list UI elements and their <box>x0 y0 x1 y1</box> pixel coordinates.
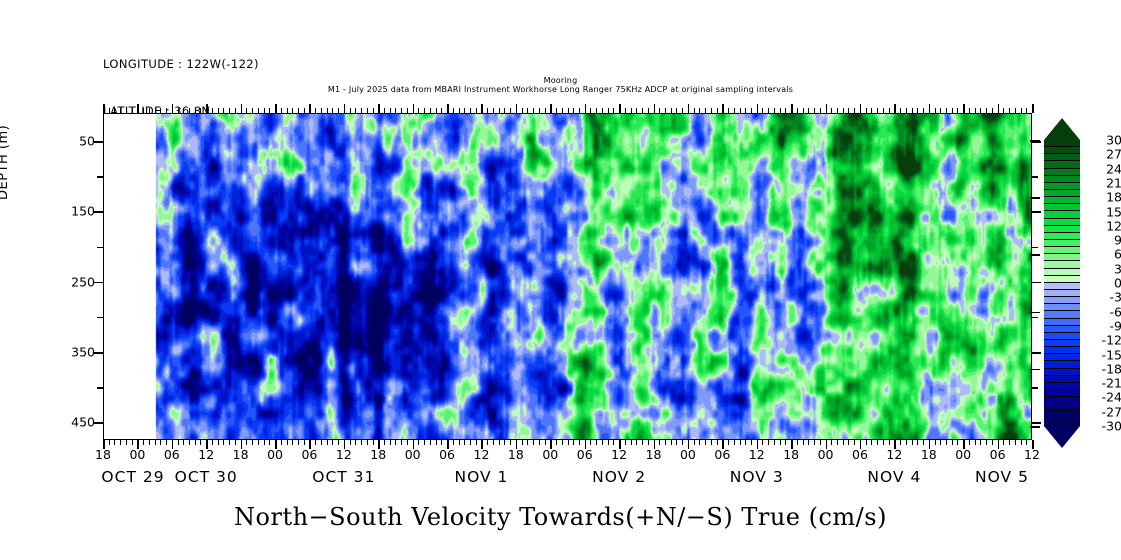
axis-tick <box>527 108 528 113</box>
axis-tick <box>275 104 277 113</box>
axis-tick <box>132 440 133 445</box>
colorbar-tick-label: -9 <box>1088 318 1121 333</box>
axis-tick <box>206 104 208 113</box>
axis-tick <box>522 440 523 445</box>
axis-tick <box>613 440 614 445</box>
axis-tick <box>1021 440 1022 445</box>
axis-tick <box>808 440 809 445</box>
axis-tick <box>860 104 862 113</box>
axis-tick <box>654 104 656 113</box>
colorbar-band <box>1044 311 1080 318</box>
colorbar-tick-label: 3 <box>1088 261 1121 276</box>
axis-tick <box>774 108 775 113</box>
axis-tick <box>321 440 322 445</box>
axis-tick <box>545 108 546 113</box>
axis-tick <box>768 108 769 113</box>
axis-tick <box>418 440 419 445</box>
colorbar-band <box>1044 240 1080 247</box>
axis-tick <box>791 104 793 113</box>
colorbar-band <box>1044 369 1080 376</box>
axis-tick <box>952 108 953 113</box>
axis-tick <box>688 440 690 449</box>
x-tick-hour: 18 <box>921 447 937 462</box>
colorbar-tick-label: -21 <box>1088 376 1121 391</box>
axis-tick <box>740 440 741 445</box>
x-tick-hour: 00 <box>955 447 971 462</box>
x-tick-hour: 00 <box>542 447 558 462</box>
colorbar-band <box>1044 390 1080 397</box>
colorbar-tick-label: 30 <box>1088 133 1121 148</box>
axis-tick <box>338 108 339 113</box>
axis-tick <box>562 440 563 445</box>
axis-tick <box>499 440 500 445</box>
axis-tick <box>986 440 987 445</box>
axis-tick <box>1032 282 1041 284</box>
colorbar-band <box>1044 204 1080 211</box>
axis-tick <box>504 108 505 113</box>
axis-tick <box>699 440 700 445</box>
colorbar-tick-label: 21 <box>1088 175 1121 190</box>
axis-tick <box>676 440 677 445</box>
velocity-heatmap <box>104 114 1031 439</box>
axis-tick <box>178 108 179 113</box>
axis-tick <box>350 440 351 445</box>
axis-tick <box>309 104 311 113</box>
axis-tick <box>642 108 643 113</box>
axis-tick <box>252 440 253 445</box>
axis-tick <box>390 108 391 113</box>
axis-tick <box>235 440 236 445</box>
axis-tick <box>734 440 735 445</box>
axis-tick <box>487 440 488 445</box>
axis-tick <box>642 440 643 445</box>
axis-tick <box>281 440 282 445</box>
axis-tick <box>705 108 706 113</box>
colorbar-tick-label: 18 <box>1088 190 1121 205</box>
axis-tick <box>659 108 660 113</box>
axis-tick <box>568 440 569 445</box>
axis-tick <box>711 440 712 445</box>
axis-tick <box>1030 426 1040 428</box>
x-tick-hour: 00 <box>680 447 696 462</box>
colorbar-band <box>1044 183 1080 190</box>
axis-tick <box>722 104 724 113</box>
axis-tick <box>384 108 385 113</box>
axis-tick <box>866 108 867 113</box>
axis-tick <box>97 176 103 178</box>
axis-tick <box>728 440 729 445</box>
axis-tick <box>539 440 540 445</box>
axis-tick <box>986 108 987 113</box>
axis-tick <box>109 440 110 445</box>
axis-tick <box>109 108 110 113</box>
axis-tick <box>1032 440 1034 449</box>
x-axis-hour-labels: 1800061218000612180006121800061218000612… <box>103 447 1032 463</box>
colorbar-tick-label: -24 <box>1088 390 1121 405</box>
axis-tick <box>264 440 265 445</box>
colorbar-band <box>1044 154 1080 161</box>
axis-tick <box>470 108 471 113</box>
axis-tick <box>952 440 953 445</box>
axis-tick <box>200 440 201 445</box>
axis-tick <box>287 440 288 445</box>
axis-tick <box>1026 108 1027 113</box>
axis-tick <box>126 440 127 445</box>
axis-tick <box>424 440 425 445</box>
axis-tick <box>923 440 924 445</box>
colorbar-tick-label: 15 <box>1088 204 1121 219</box>
axis-tick <box>722 440 724 449</box>
colorbar-tick-label: -30 <box>1088 419 1121 434</box>
x-tick-hour: 06 <box>164 447 180 462</box>
axis-tick <box>516 440 518 449</box>
axis-tick <box>843 440 844 445</box>
x-axis-day-labels: OCT 29OCT 30OCT 31NOV 1NOV 2NOV 3NOV 4NO… <box>103 468 1032 490</box>
axis-tick <box>871 108 872 113</box>
x-tick-day: NOV 5 <box>975 468 1029 486</box>
axis-tick <box>751 440 752 445</box>
axis-tick <box>894 104 896 113</box>
colorbar-band <box>1044 169 1080 176</box>
axis-tick <box>1032 247 1038 249</box>
colorbar-band <box>1044 354 1080 361</box>
axis-tick <box>189 108 190 113</box>
axis-tick <box>327 108 328 113</box>
x-tick-hour: 12 <box>336 447 352 462</box>
colorbar-band <box>1044 140 1080 147</box>
axis-tick <box>447 440 449 449</box>
axis-tick <box>1003 108 1004 113</box>
axis-tick <box>900 108 901 113</box>
axis-tick <box>619 104 621 113</box>
plot-area <box>103 113 1032 440</box>
axis-tick <box>533 108 534 113</box>
colorbar-band <box>1044 190 1080 197</box>
colorbar-bands <box>1044 140 1080 426</box>
axis-tick <box>636 440 637 445</box>
subtitle-instrument: M1 - July 2025 data from MBARI Instrumen… <box>0 85 1121 94</box>
axis-tick <box>831 108 832 113</box>
axis-tick <box>682 440 683 445</box>
axis-tick <box>481 104 483 113</box>
axis-tick <box>556 440 557 445</box>
axis-tick <box>590 108 591 113</box>
axis-tick <box>327 440 328 445</box>
axis-tick <box>900 440 901 445</box>
axis-tick <box>206 440 208 449</box>
axis-tick <box>441 440 442 445</box>
axis-tick <box>97 387 103 389</box>
axis-tick <box>235 108 236 113</box>
axis-tick <box>149 108 150 113</box>
axis-tick <box>418 108 419 113</box>
y-tick-label: 250 <box>71 274 95 289</box>
colorbar-band <box>1044 376 1080 383</box>
colorbar-band <box>1044 340 1080 347</box>
axis-tick <box>803 440 804 445</box>
axis-tick <box>361 108 362 113</box>
axis-tick <box>1030 197 1040 199</box>
x-tick-hour: 18 <box>646 447 662 462</box>
axis-tick <box>309 440 311 449</box>
x-tick-day: NOV 1 <box>455 468 509 486</box>
axis-tick <box>1026 440 1027 445</box>
subtitle-mooring: Mooring <box>0 76 1121 85</box>
axis-tick <box>717 440 718 445</box>
axis-tick <box>252 108 253 113</box>
axis-tick <box>705 440 706 445</box>
axis-tick <box>155 108 156 113</box>
axis-tick <box>464 108 465 113</box>
x-tick-hour: 12 <box>611 447 627 462</box>
axis-tick <box>212 440 213 445</box>
axis-tick <box>883 440 884 445</box>
axis-tick <box>459 440 460 445</box>
axis-tick <box>481 440 483 449</box>
axis-tick <box>172 440 174 449</box>
axis-tick <box>413 440 415 449</box>
axis-tick <box>946 440 947 445</box>
axis-tick <box>751 108 752 113</box>
axis-tick <box>395 440 396 445</box>
axis-tick <box>378 440 380 449</box>
x-tick-day: NOV 3 <box>730 468 784 486</box>
axis-tick <box>768 440 769 445</box>
x-tick-hour: 06 <box>577 447 593 462</box>
axis-tick <box>189 440 190 445</box>
axis-tick <box>436 440 437 445</box>
axis-tick <box>745 108 746 113</box>
axis-tick <box>969 440 970 445</box>
axis-tick <box>854 440 855 445</box>
axis-tick <box>848 440 849 445</box>
axis-tick <box>430 440 431 445</box>
y-axis-labels: 50150250350450 <box>40 113 95 440</box>
axis-tick <box>97 247 103 249</box>
axis-tick <box>94 211 103 213</box>
axis-tick <box>602 440 603 445</box>
axis-tick <box>1032 317 1038 319</box>
axis-tick <box>516 104 518 113</box>
axis-tick <box>143 108 144 113</box>
axis-tick <box>940 440 941 445</box>
colorbar-tick-label: -15 <box>1088 347 1121 362</box>
colorbar-band <box>1044 383 1080 390</box>
x-tick-day: NOV 2 <box>592 468 646 486</box>
axis-tick <box>430 108 431 113</box>
axis-tick <box>912 440 913 445</box>
colorbar-band <box>1044 211 1080 218</box>
axis-tick <box>120 108 121 113</box>
axis-tick <box>476 108 477 113</box>
axis-tick <box>441 108 442 113</box>
axis-tick <box>373 108 374 113</box>
colorbar-band <box>1044 418 1080 425</box>
axis-tick <box>493 440 494 445</box>
axis-tick <box>625 440 626 445</box>
axis-tick <box>218 440 219 445</box>
axis-tick <box>843 108 844 113</box>
axis-tick <box>585 440 587 449</box>
axis-tick <box>246 440 247 445</box>
colorbar-top-arrow <box>1044 118 1080 140</box>
axis-tick <box>281 108 282 113</box>
axis-tick <box>694 440 695 445</box>
axis-tick <box>476 440 477 445</box>
axis-tick <box>854 108 855 113</box>
axis-tick <box>315 108 316 113</box>
axis-tick <box>367 440 368 445</box>
axis-tick <box>545 440 546 445</box>
x-tick-hour: 06 <box>990 447 1006 462</box>
axis-tick <box>401 440 402 445</box>
x-tick-day: NOV 4 <box>867 468 921 486</box>
x-tick-hour: 06 <box>714 447 730 462</box>
axis-tick <box>814 108 815 113</box>
axis-tick <box>780 108 781 113</box>
axis-tick <box>264 108 265 113</box>
colorbar-band <box>1044 361 1080 368</box>
axis-tick <box>929 440 931 449</box>
axis-tick <box>269 108 270 113</box>
axis-tick <box>499 108 500 113</box>
x-tick-hour: 12 <box>474 447 490 462</box>
axis-tick <box>533 440 534 445</box>
axis-tick <box>155 440 156 445</box>
axis-tick <box>132 108 133 113</box>
axis-tick <box>963 104 965 113</box>
axis-tick <box>785 440 786 445</box>
axis-tick <box>762 108 763 113</box>
axis-tick <box>906 108 907 113</box>
x-tick-hour: 06 <box>439 447 455 462</box>
colorbar-band <box>1044 276 1080 283</box>
axis-tick <box>1030 140 1040 142</box>
axis-tick <box>550 104 552 113</box>
axis-tick <box>407 440 408 445</box>
axis-tick <box>556 108 557 113</box>
axis-tick <box>613 108 614 113</box>
axis-tick <box>877 108 878 113</box>
axis-tick <box>447 104 449 113</box>
axis-tick <box>631 440 632 445</box>
axis-tick <box>808 108 809 113</box>
axis-tick <box>889 108 890 113</box>
axis-tick <box>585 104 587 113</box>
axis-tick <box>957 440 958 445</box>
colorbar-band <box>1044 161 1080 168</box>
colorbar-tick-label: -12 <box>1088 333 1121 348</box>
axis-tick <box>94 422 103 424</box>
axis-tick <box>946 108 947 113</box>
axis-tick <box>734 108 735 113</box>
axis-tick <box>1030 254 1040 256</box>
axis-tick <box>218 108 219 113</box>
axis-tick <box>659 440 660 445</box>
axis-tick <box>665 440 666 445</box>
axis-tick <box>889 440 890 445</box>
axis-tick <box>298 108 299 113</box>
y-axis-title: DEPTH (m) <box>0 125 11 200</box>
axis-tick <box>120 440 121 445</box>
axis-tick <box>114 440 115 445</box>
axis-tick <box>745 440 746 445</box>
axis-tick <box>493 108 494 113</box>
axis-tick <box>453 108 454 113</box>
x-tick-hour: 00 <box>129 447 145 462</box>
axis-tick <box>275 440 277 449</box>
axis-tick <box>246 108 247 113</box>
axis-tick <box>998 104 1000 113</box>
axis-tick <box>596 108 597 113</box>
colorbar-tick-label: 0 <box>1088 276 1121 291</box>
y-tick-label: 150 <box>71 204 95 219</box>
colorbar-tick-label: 27 <box>1088 147 1121 162</box>
x-tick-hour: 00 <box>818 447 834 462</box>
axis-tick <box>510 440 511 445</box>
axis-tick <box>975 440 976 445</box>
axis-tick <box>395 108 396 113</box>
axis-tick <box>527 440 528 445</box>
x-tick-hour: 06 <box>852 447 868 462</box>
axis-tick <box>223 108 224 113</box>
axis-tick <box>384 440 385 445</box>
x-tick-hour: 18 <box>95 447 111 462</box>
axis-tick <box>780 440 781 445</box>
axis-tick <box>344 440 346 449</box>
axis-tick <box>453 440 454 445</box>
axis-tick <box>728 108 729 113</box>
axis-tick <box>740 108 741 113</box>
axis-tick <box>820 108 821 113</box>
x-tick-day: OCT 29 <box>101 468 164 486</box>
colorbar-band <box>1044 226 1080 233</box>
axis-tick <box>350 108 351 113</box>
axis-tick <box>1030 369 1040 371</box>
axis-tick <box>912 108 913 113</box>
colorbar-band <box>1044 269 1080 276</box>
colorbar-band <box>1044 347 1080 354</box>
axis-tick <box>688 104 690 113</box>
axis-tick <box>287 108 288 113</box>
axis-tick <box>355 108 356 113</box>
axis-tick <box>757 440 759 449</box>
axis-tick <box>608 108 609 113</box>
x-tick-hour: 18 <box>783 447 799 462</box>
axis-tick <box>103 104 105 113</box>
axis-tick <box>820 440 821 445</box>
axis-tick <box>826 440 828 449</box>
axis-tick <box>625 108 626 113</box>
colorbar-bottom-arrow <box>1044 426 1080 448</box>
axis-tick <box>1009 440 1010 445</box>
colorbar-tick-label: 12 <box>1088 218 1121 233</box>
colorbar-band <box>1044 247 1080 254</box>
axis-tick <box>539 108 540 113</box>
axis-tick <box>114 108 115 113</box>
axis-tick <box>636 108 637 113</box>
colorbar-labels: 302724211815129630-3-6-9-12-15-18-21-24-… <box>1088 118 1121 448</box>
x-tick-hour: 12 <box>1024 447 1040 462</box>
axis-tick <box>1032 422 1041 424</box>
axis-tick <box>137 104 139 113</box>
longitude-label: LONGITUDE : 122W(-122) <box>103 57 259 73</box>
axis-tick <box>487 108 488 113</box>
axis-tick <box>837 440 838 445</box>
axis-tick <box>550 440 552 449</box>
axis-tick <box>1032 352 1041 354</box>
colorbar-band <box>1044 404 1080 411</box>
